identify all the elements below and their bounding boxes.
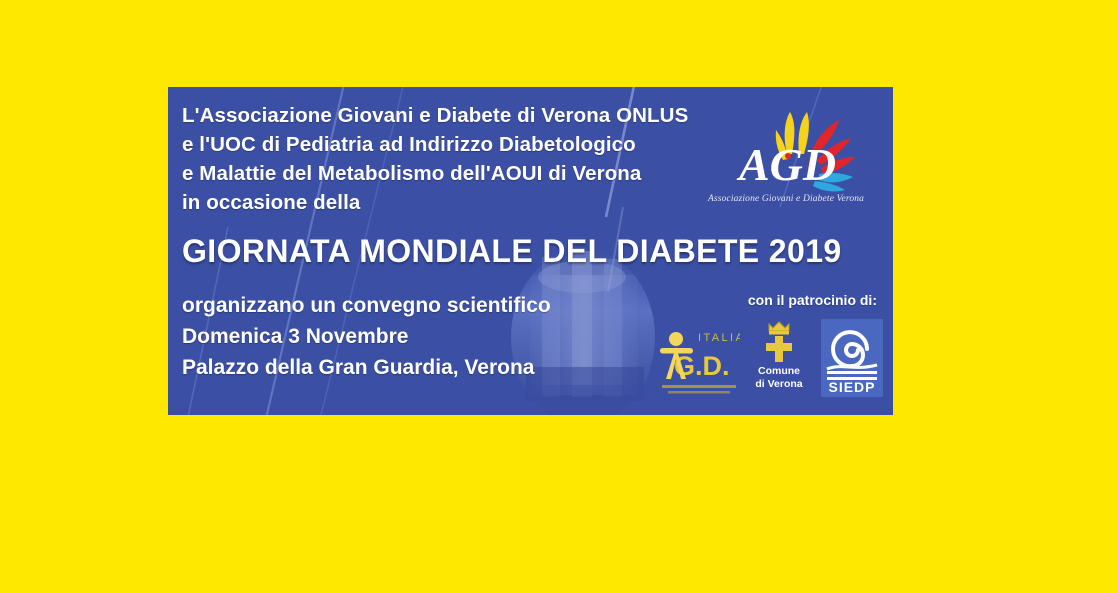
detail-line-activity: organizzano un convegno scientifico	[182, 290, 551, 321]
agd-verona-logo: AGD Associazione Giovani e Diabete Veron…	[691, 104, 881, 216]
intro-line-2: e l'UOC di Pediatria ad Indirizzo Diabet…	[182, 130, 688, 159]
agd-italia-icon: ITALIA G.D.	[658, 319, 740, 401]
event-headline: GIORNATA MONDIALE DEL DIABETE 2019	[182, 233, 842, 270]
intro-line-4: in occasione della	[182, 188, 688, 217]
svg-text:ITALIA: ITALIA	[698, 332, 740, 344]
detail-line-venue: Palazzo della Gran Guardia, Verona	[182, 352, 551, 383]
comune-caption: Comune di Verona	[750, 365, 808, 391]
comune-caption-line-1: Comune	[750, 365, 808, 378]
intro-line-3: e Malattie del Metabolismo dell'AOUI di …	[182, 159, 688, 188]
patron-logo-agd-italia: ITALIA G.D.	[658, 319, 740, 401]
comune-crown-cross-icon	[750, 319, 808, 365]
patron-logo-comune-di-verona: Comune di Verona	[750, 319, 808, 401]
patronage-label: con il patrocinio di:	[748, 292, 877, 308]
event-banner: L'Associazione Giovani e Diabete di Vero…	[168, 87, 893, 415]
event-details-block: organizzano un convegno scientifico Dome…	[182, 290, 551, 383]
agd-logo-mark: AGD	[691, 104, 881, 196]
svg-text:AGD: AGD	[736, 139, 836, 190]
svg-text:SIEDP: SIEDP	[828, 379, 875, 395]
intro-line-1: L'Associazione Giovani e Diabete di Vero…	[182, 101, 688, 130]
patronage-logo-strip: ITALIA G.D.	[658, 319, 883, 401]
patron-logo-siedp: SIEDP	[821, 319, 883, 401]
agd-logo-tagline: Associazione Giovani e Diabete Verona	[691, 194, 881, 204]
siedp-icon: SIEDP	[821, 319, 883, 397]
intro-text-block: L'Associazione Giovani e Diabete di Vero…	[182, 101, 688, 217]
detail-line-date: Domenica 3 Novembre	[182, 321, 551, 352]
comune-caption-line-2: di Verona	[750, 378, 808, 391]
